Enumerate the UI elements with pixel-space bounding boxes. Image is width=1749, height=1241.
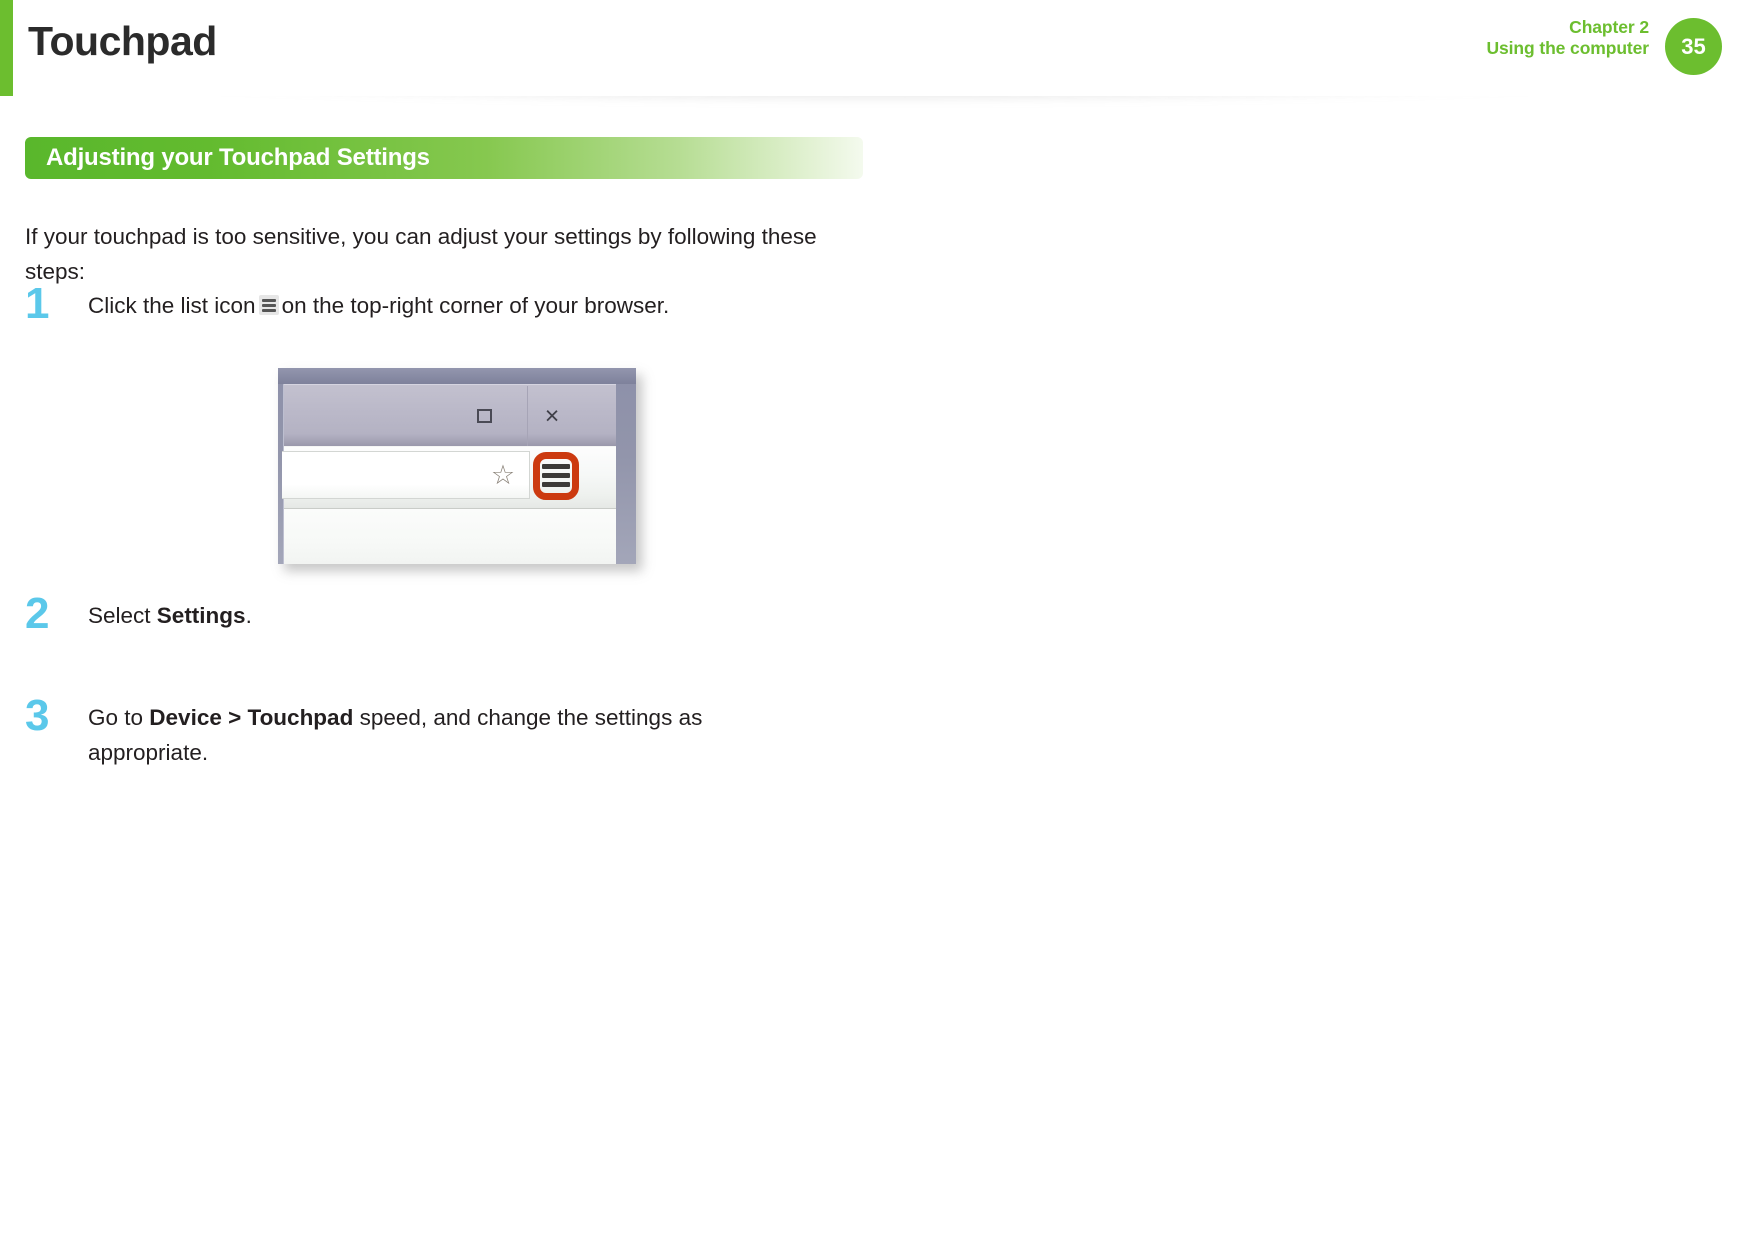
browser-top-right-corner-screenshot: × ☆ bbox=[278, 368, 636, 564]
chapter-info: Chapter 2 Using the computer bbox=[1486, 17, 1649, 60]
step-3-bold-term: Device > Touchpad bbox=[149, 705, 353, 730]
browser-titlebar: × bbox=[284, 384, 616, 446]
step-item-1: 1 Click the list iconon the top-right co… bbox=[25, 288, 825, 323]
page-title: Touchpad bbox=[28, 18, 217, 65]
section-banner: Adjusting your Touchpad Settings bbox=[25, 137, 863, 179]
step-text-3: Go to Device > Touchpad speed, and chang… bbox=[88, 700, 825, 770]
step-2-text-after: . bbox=[246, 603, 252, 628]
browser-content-area bbox=[284, 508, 616, 564]
step-number-1: 1 bbox=[25, 282, 67, 326]
close-icon[interactable]: × bbox=[537, 401, 567, 431]
browser-toolbar: ☆ bbox=[284, 446, 616, 508]
page-number-badge: 35 bbox=[1665, 18, 1722, 75]
intro-paragraph: If your touchpad is too sensitive, you c… bbox=[25, 219, 825, 289]
bookmark-star-icon[interactable]: ☆ bbox=[488, 461, 518, 489]
step-2-text-before: Select bbox=[88, 603, 157, 628]
step-1-text-before: Click the list icon bbox=[88, 293, 256, 318]
section-banner-title: Adjusting your Touchpad Settings bbox=[46, 144, 430, 172]
step-item-2: 2 Select Settings. bbox=[25, 598, 825, 633]
step-text-1: Click the list iconon the top-right corn… bbox=[88, 288, 825, 323]
step-2-bold-term: Settings bbox=[157, 603, 246, 628]
desktop-backdrop-top bbox=[278, 368, 636, 384]
step-text-2: Select Settings. bbox=[88, 598, 825, 633]
highlight-annotation-box bbox=[533, 452, 579, 500]
maximize-icon[interactable] bbox=[471, 403, 497, 429]
step-item-3: 3 Go to Device > Touchpad speed, and cha… bbox=[25, 700, 825, 770]
step-number-2: 2 bbox=[25, 592, 67, 636]
step-number-3: 3 bbox=[25, 694, 67, 738]
chapter-subtitle: Using the computer bbox=[1486, 38, 1649, 59]
chapter-label: Chapter 2 bbox=[1486, 17, 1649, 38]
browser-window: × ☆ bbox=[283, 384, 616, 564]
step-1-text-after: on the top-right corner of your browser. bbox=[282, 293, 670, 318]
titlebar-divider bbox=[527, 386, 528, 447]
step-3-text-before: Go to bbox=[88, 705, 149, 730]
header-accent-bar bbox=[0, 0, 13, 96]
list-hamburger-icon bbox=[259, 295, 279, 315]
page-header: Touchpad Chapter 2 Using the computer 35 bbox=[0, 0, 1749, 96]
